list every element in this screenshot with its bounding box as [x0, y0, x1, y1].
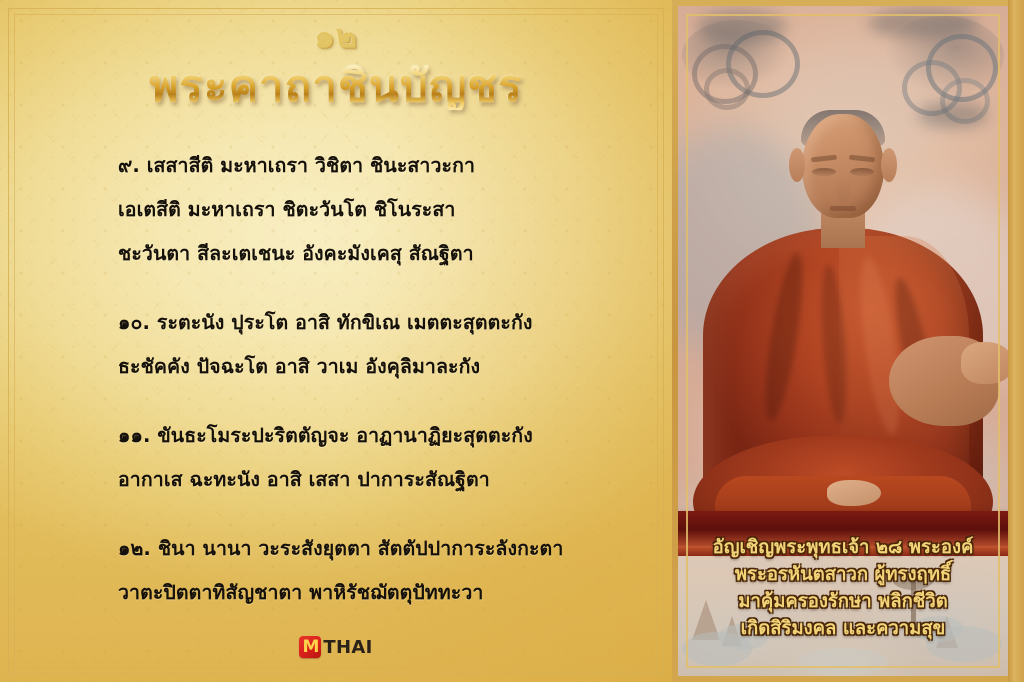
caption-line: มาคุ้มครองรักษา พลิกชีวิต: [684, 588, 1002, 615]
mthai-logo-letter: M: [302, 639, 318, 656]
verse-line: อากาเส ฉะทะนัง อาสิ เสสา ปาการะสัณฐิตา: [118, 458, 648, 502]
stanza: ๙. เสสาสีติ มะหาเถรา วิชิตา ชินะสาวะกา เ…: [118, 144, 648, 276]
panel-edge-strip: [1008, 0, 1024, 682]
verse-line: ๙. เสสาสีติ มะหาเถรา วิชิตา ชินะสาวะกา: [118, 144, 648, 188]
monk-ear: [789, 148, 805, 182]
verse-line: วาตะปิตตาทิสัญชาตา พาหิรัชฌัตตุปัททะวา: [118, 571, 648, 615]
poster-header: ๑๒ พระคาถาชินบัญชร: [0, 0, 672, 110]
monk-foot: [827, 480, 881, 506]
verse-line: ธะชัคคัง ปัจฉะโต อาสิ วาเม อังคุลิมาละกั…: [118, 345, 648, 389]
stanza: ๑๑. ขันธะโมระปะริตตัญจะ อาฏานาฏิยะสุตตะก…: [118, 414, 648, 502]
image-panel: อัญเชิญพระพุทธเจ้า ๒๘ พระองค์ พระอรหันตส…: [672, 0, 1024, 682]
poster-canvas: ๑๒ พระคาถาชินบัญชร ๙. เสสาสีติ มะหาเถรา …: [0, 0, 1024, 682]
mthai-logo-text: THAI: [323, 637, 372, 658]
caption-line: เกิดสิริมงคล และความสุข: [684, 615, 1002, 642]
verse-list: ๙. เสสาสีติ มะหาเถรา วิชิตา ชินะสาวะกา เ…: [118, 144, 648, 615]
text-panel: ๑๒ พระคาถาชินบัญชร ๙. เสสาสีติ มะหาเถรา …: [0, 0, 672, 682]
mthai-logo[interactable]: M THAI: [0, 636, 672, 658]
image-caption: อัญเชิญพระพุทธเจ้า ๒๘ พระองค์ พระอรหันตส…: [678, 534, 1008, 642]
page-title: พระคาถาชินบัญชร: [0, 64, 672, 110]
verse-line: ๑๑. ขันธะโมระปะริตตัญจะ อาฏานาฏิยะสุตตะก…: [118, 414, 648, 458]
stanza: ๑๐. ระตะนัง ปุระโต อาสิ ทักขิเณ เมตตะสุต…: [118, 301, 648, 389]
monk-nose: [836, 176, 850, 202]
monk-ear: [881, 148, 897, 182]
verse-line: ๑๒. ชินา นานา วะระสังยุตตา สัตตัปปาการะล…: [118, 527, 648, 571]
stanza: ๑๒. ชินา นานา วะระสังยุตตา สัตตัปปาการะล…: [118, 527, 648, 615]
verse-line: ๑๐. ระตะนัง ปุระโต อาสิ ทักขิเณ เมตตะสุต…: [118, 301, 648, 345]
verse-line: ชะวันตา สีละเตเชนะ อังคะมังเคสุ สัณฐิตา: [118, 232, 648, 276]
monk-eye: [812, 168, 836, 176]
chapter-numeral: ๑๒: [0, 20, 672, 52]
monk-hand: [961, 342, 1008, 384]
monk-eye: [850, 168, 874, 176]
verse-line: เอเตสีติ มะหาเถรา ชิตะวันโต ชิโนระสา: [118, 188, 648, 232]
monk-head: [802, 114, 884, 218]
mthai-logo-mark-icon: M: [299, 636, 321, 658]
caption-line: อัญเชิญพระพุทธเจ้า ๒๘ พระองค์: [684, 534, 1002, 561]
caption-line: พระอรหันตสาวก ผู้ทรงฤทธิ์: [684, 561, 1002, 588]
monk-portrait-image: อัญเชิญพระพุทธเจ้า ๒๘ พระองค์ พระอรหันตส…: [678, 6, 1008, 676]
mural-cloud: [798, 648, 888, 676]
monk-mouth: [830, 206, 856, 211]
